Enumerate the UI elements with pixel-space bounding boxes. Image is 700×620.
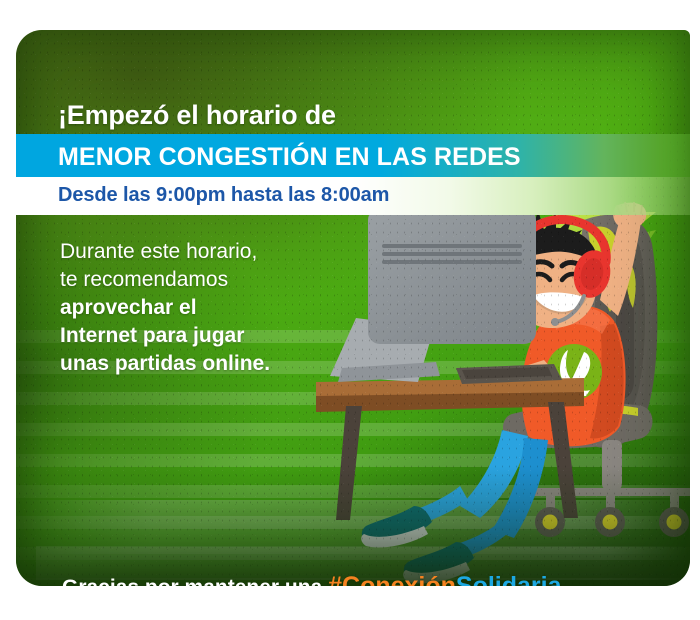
headline-schedule: Desde las 9:00pm hasta las 8:00am xyxy=(58,184,389,207)
body-line-2: te recomendamos xyxy=(60,266,340,294)
chair-wheels xyxy=(535,507,689,537)
monitor xyxy=(330,208,536,382)
body-line-4: Internet para jugar xyxy=(60,322,340,350)
headline-line2: MENOR CONGESTIÓN EN LAS REDES xyxy=(58,143,521,172)
body-line-3: aprovechar el xyxy=(60,294,340,322)
body-copy: Durante este horario, te recomendamos ap… xyxy=(60,238,340,378)
hashtag-conexion: #Conexión xyxy=(328,572,456,586)
hashtag-solidaria: Solidaria xyxy=(456,572,562,586)
body-line-1: Durante este horario, xyxy=(60,238,340,266)
footer-line: Gracias por mantener una #ConexiónSolida… xyxy=(62,572,562,586)
headline-line1: ¡Empezó el horario de xyxy=(58,100,336,131)
poster-root: ¡Empezó el horario de MENOR CONGESTIÓN E… xyxy=(0,0,700,620)
gamer-at-desk-illustration xyxy=(316,200,690,586)
footer-thanks-text: Gracias por mantener una xyxy=(62,576,322,586)
legs xyxy=(408,430,548,560)
body-line-5: unas partidas online. xyxy=(60,350,340,378)
poster-card: ¡Empezó el horario de MENOR CONGESTIÓN E… xyxy=(16,30,690,586)
